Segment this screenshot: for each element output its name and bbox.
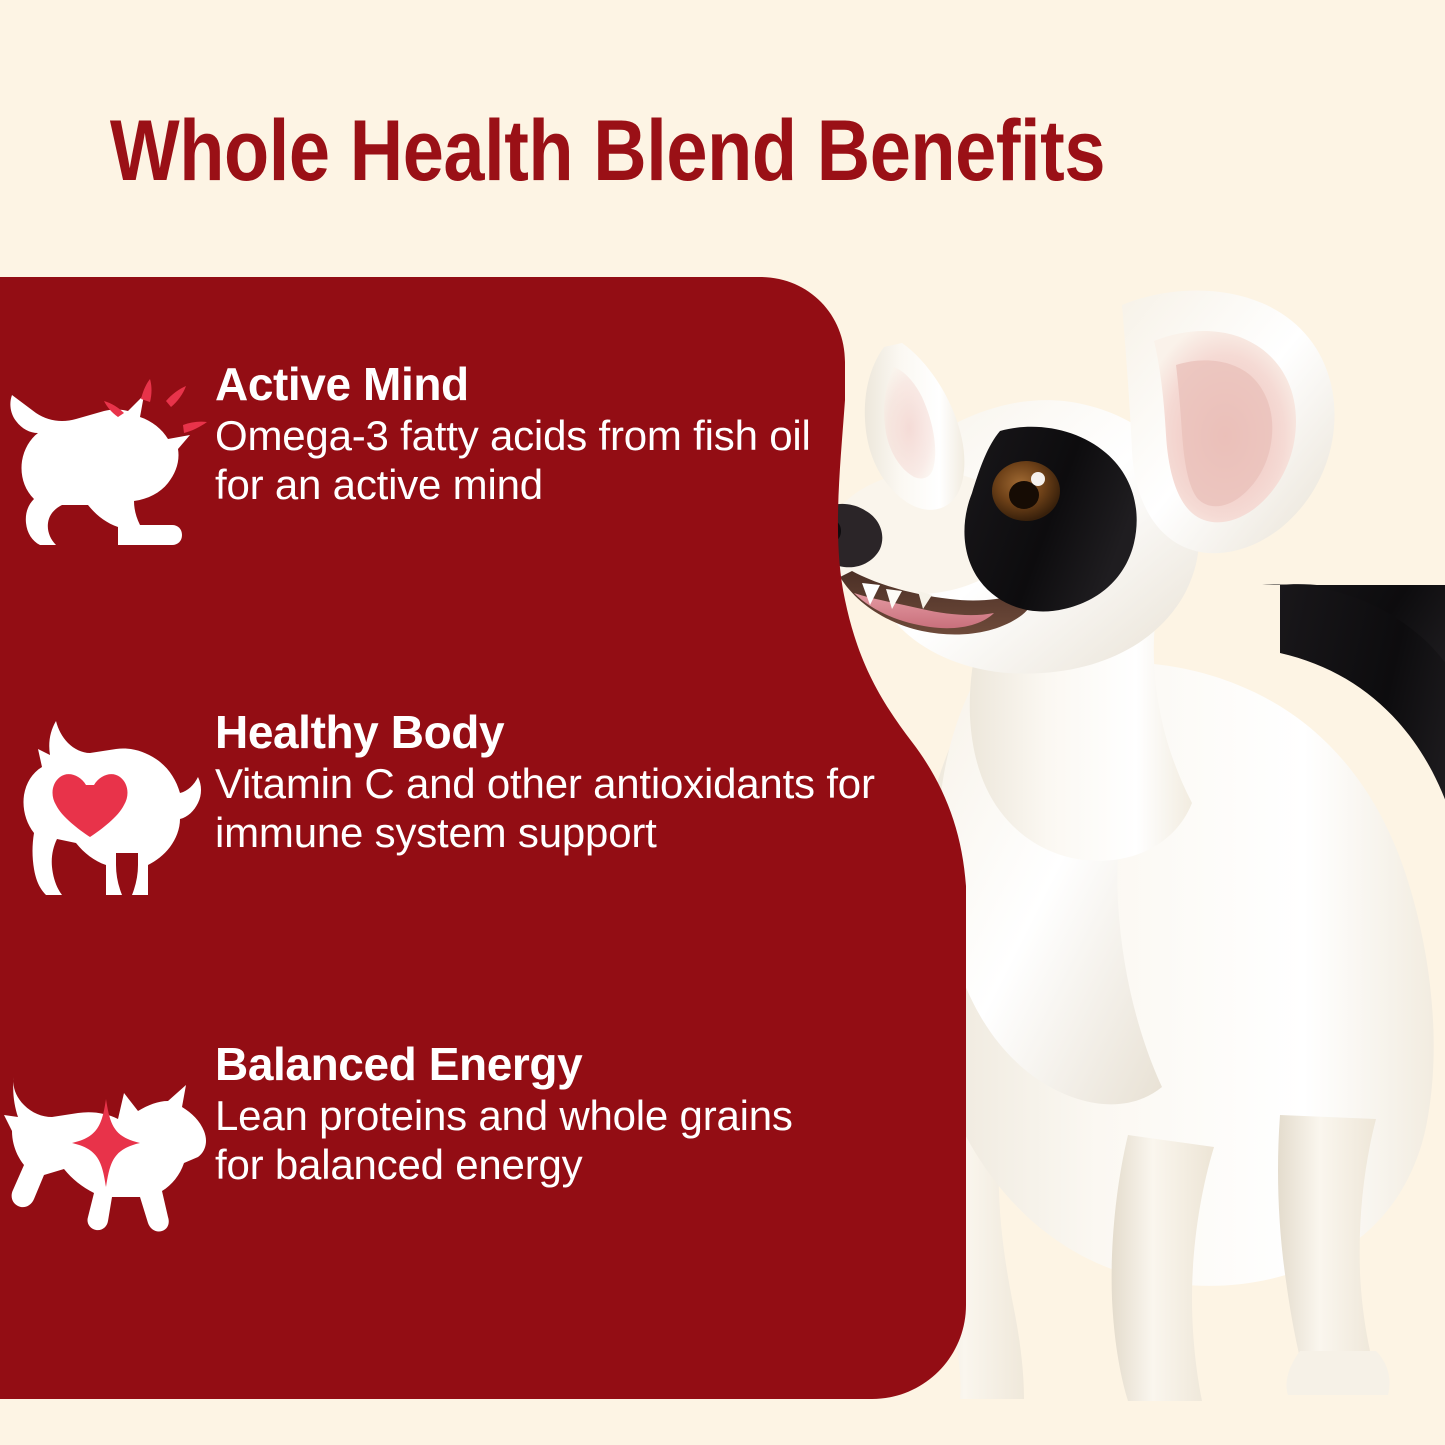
benefit-title: Active Mind [215, 361, 840, 409]
benefit-description: Lean proteins and whole grains for balan… [215, 1091, 840, 1189]
benefit-description: Vitamin C and other antioxidants for imm… [215, 759, 880, 857]
benefit-icon-wrapper [0, 705, 215, 898]
dog-trotting-sparkle-icon [0, 1059, 215, 1234]
page-title: Whole Health Blend Benefits [85, 108, 1130, 194]
benefit-text-wrapper: Active Mind Omega-3 fatty acids from fis… [215, 357, 840, 509]
dog-pupil [1009, 481, 1039, 509]
dog-paw [1287, 1351, 1390, 1395]
benefit-icon-wrapper [0, 357, 215, 552]
dog-play-bow-sparks-icon [0, 377, 215, 552]
benefit-title: Balanced Energy [215, 1041, 840, 1089]
dog-eye-highlight [1031, 472, 1045, 486]
benefit-item-healthy-body: Healthy Body Vitamin C and other antioxi… [0, 705, 880, 898]
dog-photo [810, 255, 1445, 1415]
benefit-title: Healthy Body [215, 709, 880, 757]
benefit-text-wrapper: Balanced Energy Lean proteins and whole … [215, 1037, 840, 1189]
benefit-icon-wrapper [0, 1037, 215, 1234]
benefit-description: Omega-3 fatty acids from fish oil for an… [215, 411, 840, 509]
benefit-item-active-mind: Active Mind Omega-3 fatty acids from fis… [0, 357, 840, 552]
product-benefits-infographic: Whole Health Blend Benefits [0, 0, 1445, 1445]
benefit-text-wrapper: Healthy Body Vitamin C and other antioxi… [215, 705, 880, 857]
dog-silhouette [10, 395, 190, 545]
spark-mark [183, 422, 207, 433]
benefit-item-balanced-energy: Balanced Energy Lean proteins and whole … [0, 1037, 840, 1234]
dog-standing-heart-icon [0, 713, 215, 898]
spark-mark [166, 386, 186, 407]
spark-mark [141, 379, 152, 402]
